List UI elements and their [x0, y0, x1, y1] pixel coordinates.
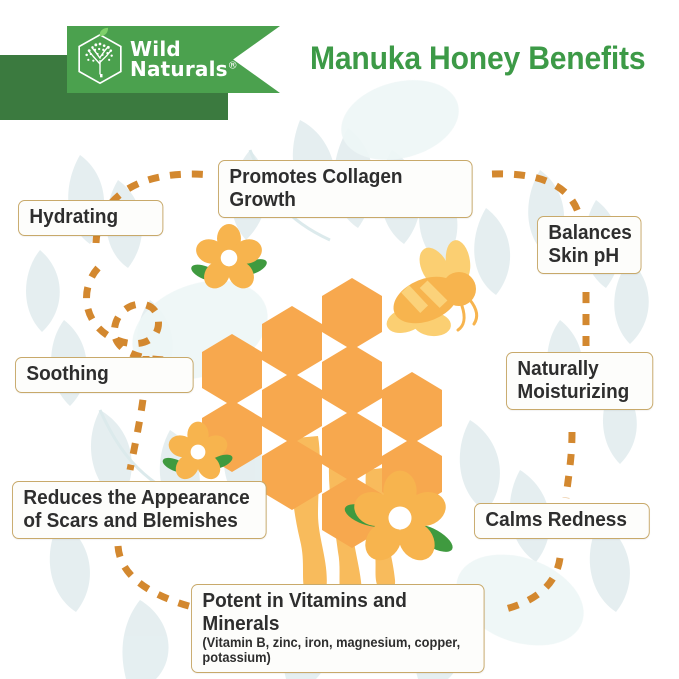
- flower-icon: [189, 224, 269, 294]
- benefit-label-line1: Naturally: [517, 358, 598, 380]
- leaf-icon: [98, 27, 109, 38]
- brand-line-2-text: Naturals: [130, 57, 228, 81]
- benefit-hydrating: Hydrating: [18, 200, 163, 236]
- page-title: Manuka Honey Benefits: [310, 40, 645, 77]
- brand-wordmark: Wild Naturals®: [130, 39, 238, 80]
- benefit-vitamins-minerals: Potent in Vitamins and Minerals (Vitamin…: [191, 584, 485, 673]
- benefit-label-line1: Balances: [548, 222, 631, 244]
- infographic-canvas: Wild Naturals® Manuka Honey Benefits Hyd…: [0, 0, 679, 679]
- benefit-label: Hydrating: [29, 206, 118, 228]
- benefit-label: Potent in Vitamins and Minerals: [202, 590, 406, 635]
- benefit-label: Promotes Collagen Growth: [229, 166, 402, 211]
- benefit-sublabel: (Vitamin B, zinc, iron, magnesium, coppe…: [202, 636, 473, 666]
- brand-ribbon: Wild Naturals®: [67, 26, 280, 93]
- benefit-collagen: Promotes Collagen Growth: [218, 160, 473, 218]
- benefit-balances-skin-ph: Balances Skin pH: [537, 216, 642, 274]
- brand-logo: Wild Naturals®: [75, 32, 238, 86]
- hexagon-tree-logo-icon: [75, 32, 125, 86]
- benefit-label-line2: Skin pH: [548, 245, 619, 267]
- benefit-label-line2: of Scars and Blemishes: [23, 510, 237, 532]
- brand-line-1: Wild: [130, 39, 238, 59]
- benefit-label: Soothing: [26, 363, 108, 385]
- flower-icon: [161, 422, 235, 484]
- brand-line-2: Naturals®: [130, 59, 238, 79]
- bee-icon: [383, 239, 476, 338]
- flower-icon: [342, 471, 457, 568]
- benefit-soothing: Soothing: [15, 357, 194, 393]
- benefit-label: Calms Redness: [485, 509, 627, 531]
- registered-mark: ®: [228, 60, 238, 71]
- benefit-naturally-moisturizing: Naturally Moisturizing: [506, 352, 653, 410]
- benefit-reduces-scars: Reduces the Appearance of Scars and Blem…: [12, 481, 267, 539]
- benefit-calms-redness: Calms Redness: [474, 503, 650, 539]
- benefit-label-line1: Reduces the Appearance: [23, 487, 249, 509]
- benefit-label-line2: Moisturizing: [517, 381, 629, 403]
